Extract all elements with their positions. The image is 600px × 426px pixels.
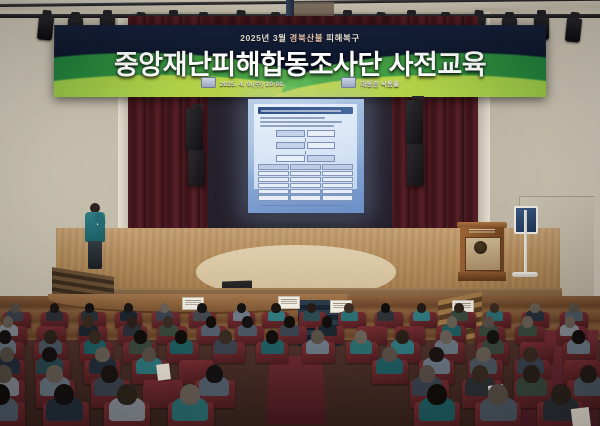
banner-subtitle-highlight: 경북산불 [290,33,324,43]
audience-member-head [565,316,576,327]
audience-member-head [175,330,188,343]
institution-emblem [474,241,487,254]
audience-member-head [487,330,500,343]
org-chart-cell [276,155,304,162]
slide-table-cell [322,195,353,200]
audience-member-head [89,330,102,343]
audience-member-head [572,330,585,343]
audience-member-head [381,303,390,313]
slide-title-bar [258,107,353,114]
audience-member-head [311,330,324,343]
monitor-base [512,272,538,277]
audience-member-head [142,347,157,363]
auditorium-photo: 2025년 3월 경북산불 피해복구 중앙재난피해합동조사단 사전교육 2025… [0,0,600,426]
slide-table-cell [290,189,321,194]
speaker-mount-arm [192,104,204,107]
slide-table-cell [322,164,353,170]
audience-member-head [134,330,147,343]
slide-table-cell [258,195,289,200]
banner-meta-row: 2025. 4. 9.(수) 10:00 대동관 낙동홀 [54,77,546,88]
slide-table-cell [290,195,321,200]
audience-member-head [454,303,463,313]
audience-member-head [429,347,444,363]
org-chart-row [276,130,335,137]
audience-member-head [42,347,57,363]
slide-footnote-line [260,205,346,206]
audience-member-head [10,303,19,313]
audience-member-head [382,347,397,363]
audience-member-head [95,347,110,363]
slide-table-cell [258,164,289,170]
calendar-icon [201,77,216,88]
audience-member-head [344,303,353,313]
location-icon [341,77,356,88]
presenter-on-stage [84,203,106,269]
org-chart-cell [276,142,304,149]
audience-member-head [266,330,279,343]
audience-member-head [523,365,540,383]
projection-screen [248,99,364,213]
org-chart-cell [307,142,335,149]
banner-date-item: 2025. 4. 9.(수) 10:00 [201,77,284,88]
slide-org-chart [276,130,335,162]
audience-member-head [117,384,137,405]
audience-member-head [284,316,295,327]
stage-light [565,17,582,42]
slide-table-cell [322,189,353,194]
audience-member-head [580,365,597,383]
podium-nameplate [469,229,495,234]
slide-table-cell [258,183,289,188]
slide-bullet-line [260,117,325,119]
banner-subtitle-suffix: 피해복구 [323,33,360,43]
presenter-legs [88,241,102,269]
audience-member-head [127,316,138,327]
event-banner: 2025년 3월 경북산불 피해복구 중앙재난피해합동조사단 사전교육 2025… [54,25,547,97]
audience-member-head [322,316,333,327]
audience-member-head [206,365,223,383]
podium-body [460,227,504,273]
slide-content [254,104,357,189]
hanging-speaker-left-upper [186,108,203,150]
audience-member-head [83,316,94,327]
audience-member-head [44,330,57,343]
audience-member-head [180,384,200,405]
slide-table [258,164,353,202]
wooden-podium [460,222,504,284]
audience-member-head [0,347,14,363]
slide-table-cell [258,189,289,194]
slide-table-column [322,164,353,202]
audience-member-head [271,303,280,313]
hanging-speaker-right-upper [406,100,423,144]
slide-table-cell [290,171,321,176]
audience-member-head [472,365,489,383]
handout-document [570,406,591,426]
stage-light [37,15,54,40]
hanging-speaker-left-lower [188,150,205,186]
audience-member-head [46,365,63,383]
org-chart-row [276,142,335,149]
audience-member-head [219,330,232,343]
center-aisle-carpet [266,356,326,425]
audience-member-head [440,330,453,343]
audience-member-head [427,384,447,405]
slide-table-column [290,164,321,202]
wall-sign [278,296,300,309]
org-chart-row [276,155,335,162]
monitor-stand [524,210,527,276]
audience-member-head [523,347,538,363]
banner-subtitle-prefix: 2025년 3월 [240,33,289,43]
slide-table-cell [290,183,321,188]
org-chart-cell [307,130,335,137]
banner-place-item: 대동관 낙동홀 [341,77,399,88]
audience-member-head [101,365,118,383]
audience-member-head [419,365,436,383]
slide-table-cell [258,171,289,176]
audience-member-head [242,316,253,327]
audience-member-head [206,316,217,327]
audience-member-head [530,303,539,313]
audience-member-head [54,384,74,405]
slide-table-column [258,164,289,202]
slide-bullet-line [260,125,334,127]
audience-member-head [197,303,206,313]
audience-member-head [163,316,174,327]
slide-table-cell [258,177,289,182]
audience-member-head [476,347,491,363]
audience-member-head [355,330,368,343]
audience-member-head [396,330,409,343]
audience-member-head [522,316,533,327]
slide-table-cell [322,177,353,182]
handout-document [156,363,171,381]
banner-date-text: 2025. 4. 9.(수) 10:00 [220,78,284,88]
org-chart-cell [276,130,304,137]
audience-member-head [488,384,508,405]
hanging-speaker-right-lower [407,144,424,186]
audience-member-head [483,316,494,327]
audience-member-head [3,316,14,327]
slide-table-cell [290,164,321,170]
audience-member-head [307,303,316,313]
speaker-mount-arm [412,96,424,99]
slide-table-cell [290,177,321,182]
audience-member-head [0,330,11,343]
audience-member-head [447,316,458,327]
audience-member-head [551,384,571,405]
org-chart-cell [307,155,335,162]
podium-base [458,272,506,281]
banner-place-text: 대동관 낙동홀 [360,78,399,88]
audience-member-head [569,303,578,313]
slide-table-cell [322,183,353,188]
slide-table-cell [322,171,353,176]
slide-bullet-line [260,121,342,123]
